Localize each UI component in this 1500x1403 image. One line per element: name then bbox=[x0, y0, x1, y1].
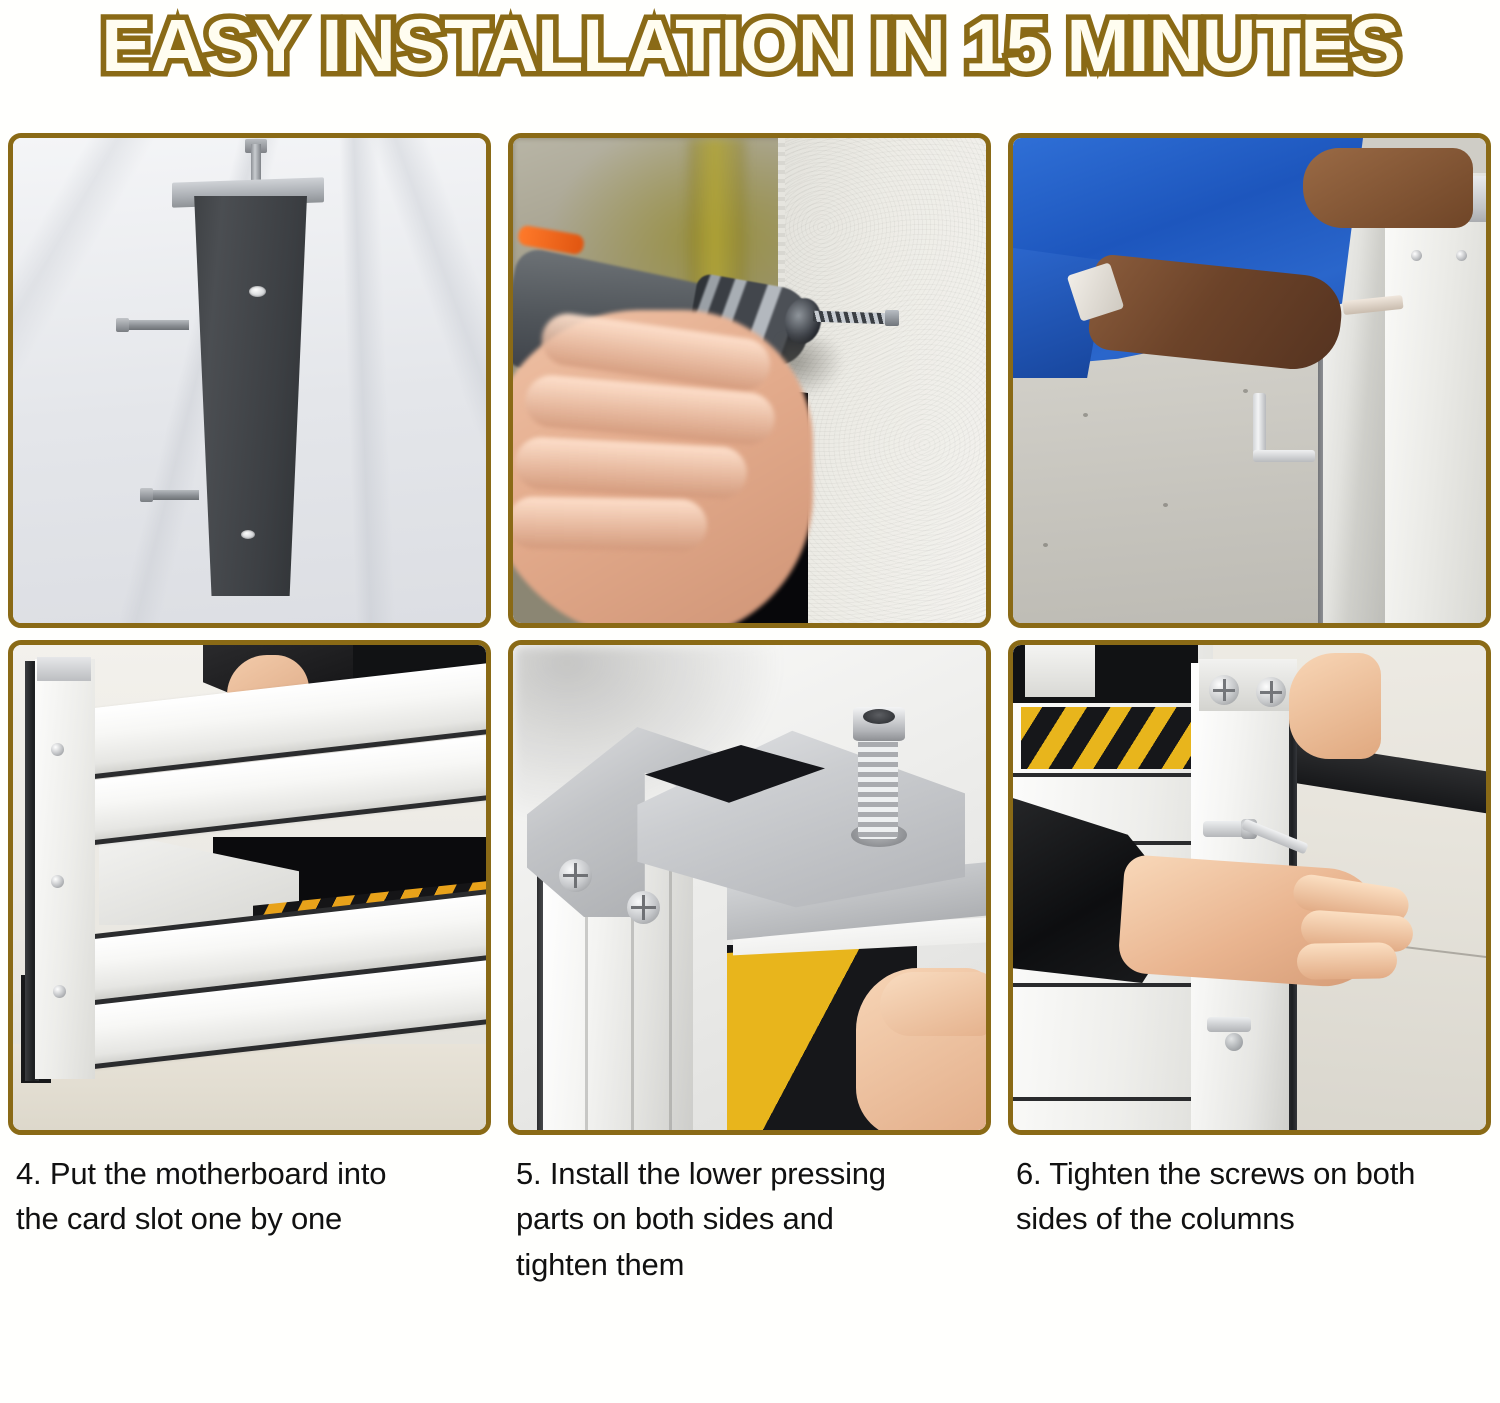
caption-line: parts on both sides and bbox=[516, 1196, 987, 1241]
phillips-screw-icon bbox=[1256, 677, 1286, 707]
side-bolt-lower-nut bbox=[1225, 1033, 1243, 1051]
column-face bbox=[1385, 173, 1486, 623]
step-2-image-frame bbox=[508, 133, 991, 628]
installation-steps-grid: 1. Mark the punching position bbox=[8, 133, 1492, 1287]
mark-punching-position-photo bbox=[13, 138, 486, 623]
page-title: EASY INSTALLATION IN 15 MINUTES bbox=[101, 9, 1399, 83]
hex-key-short-arm bbox=[1253, 450, 1315, 462]
insert-boards-photo bbox=[13, 645, 486, 1130]
column-post bbox=[35, 659, 95, 1079]
caption-line: 5. Install the lower pressing bbox=[516, 1151, 987, 1196]
step-card-6: 6. Tighten the screws on both sides of t… bbox=[1008, 640, 1491, 1287]
mounting-hole-upper bbox=[249, 286, 266, 297]
step-card-3: 3. Insert the expansion screw into the h… bbox=[1008, 133, 1491, 628]
phillips-screw-icon bbox=[559, 859, 592, 892]
step-1-image-frame bbox=[8, 133, 491, 628]
step-6-caption: 6. Tighten the screws on both sides of t… bbox=[1008, 1135, 1491, 1242]
board-seam bbox=[1013, 773, 1213, 777]
step-5-image-frame bbox=[508, 640, 991, 1135]
side-bolt-lower bbox=[1207, 1017, 1251, 1032]
tighten-screws-photo bbox=[1013, 645, 1486, 1130]
bracket-screw bbox=[1411, 250, 1422, 261]
mounting-hole-lower bbox=[241, 530, 255, 539]
worker-upper-hand bbox=[1303, 148, 1473, 228]
caption-line: tighten them bbox=[516, 1242, 987, 1287]
expansion-stud-lower-cap bbox=[140, 488, 153, 502]
finger bbox=[1297, 942, 1398, 980]
caption-line: 4. Put the motherboard into bbox=[16, 1151, 487, 1196]
caption-line: sides of the columns bbox=[1016, 1196, 1487, 1241]
step-5-caption: 5. Install the lower pressing parts on b… bbox=[508, 1135, 991, 1287]
step-4-caption: 4. Put the motherboard into the card slo… bbox=[8, 1135, 491, 1242]
insert-expansion-screw-photo bbox=[1013, 138, 1486, 623]
column-top-plate bbox=[37, 657, 91, 681]
column-screw bbox=[51, 875, 64, 888]
upper-board-strip bbox=[1025, 645, 1095, 697]
step-6-image-frame bbox=[1008, 640, 1491, 1135]
phillips-screw-icon bbox=[627, 891, 660, 924]
hazard-stripe-tape bbox=[1021, 707, 1193, 769]
bolt-socket-bore bbox=[863, 709, 895, 724]
column-groove bbox=[669, 859, 672, 1130]
step-4-image-frame bbox=[8, 640, 491, 1135]
step-card-2: 2. Use an electric hammer to drill holes… bbox=[508, 133, 991, 628]
step-3-image-frame bbox=[1008, 133, 1491, 628]
board-seam bbox=[1013, 983, 1213, 987]
finger bbox=[513, 496, 707, 551]
step-card-5: 5. Install the lower pressing parts on b… bbox=[508, 640, 991, 1287]
step-card-1: 1. Mark the punching position bbox=[8, 133, 491, 628]
board-seam bbox=[1013, 1097, 1213, 1101]
step-card-4: 4. Put the motherboard into the card slo… bbox=[8, 640, 491, 1287]
drill-holes-photo bbox=[513, 138, 986, 623]
install-pressing-parts-photo bbox=[513, 645, 986, 1130]
worker-second-hand bbox=[1289, 653, 1381, 759]
drill-bit-tip bbox=[885, 310, 899, 326]
phillips-screw-icon bbox=[1209, 675, 1239, 705]
header-banner: EASY INSTALLATION IN 15 MINUTES bbox=[0, 0, 1500, 92]
column-screw bbox=[53, 985, 66, 998]
worker-thumb bbox=[880, 972, 986, 1036]
bracket-screw bbox=[1456, 250, 1467, 261]
caption-line: 6. Tighten the screws on both bbox=[1016, 1151, 1487, 1196]
caption-line: the card slot one by one bbox=[16, 1196, 487, 1241]
expansion-stud-upper-cap bbox=[116, 318, 129, 332]
column-screw bbox=[51, 743, 64, 756]
